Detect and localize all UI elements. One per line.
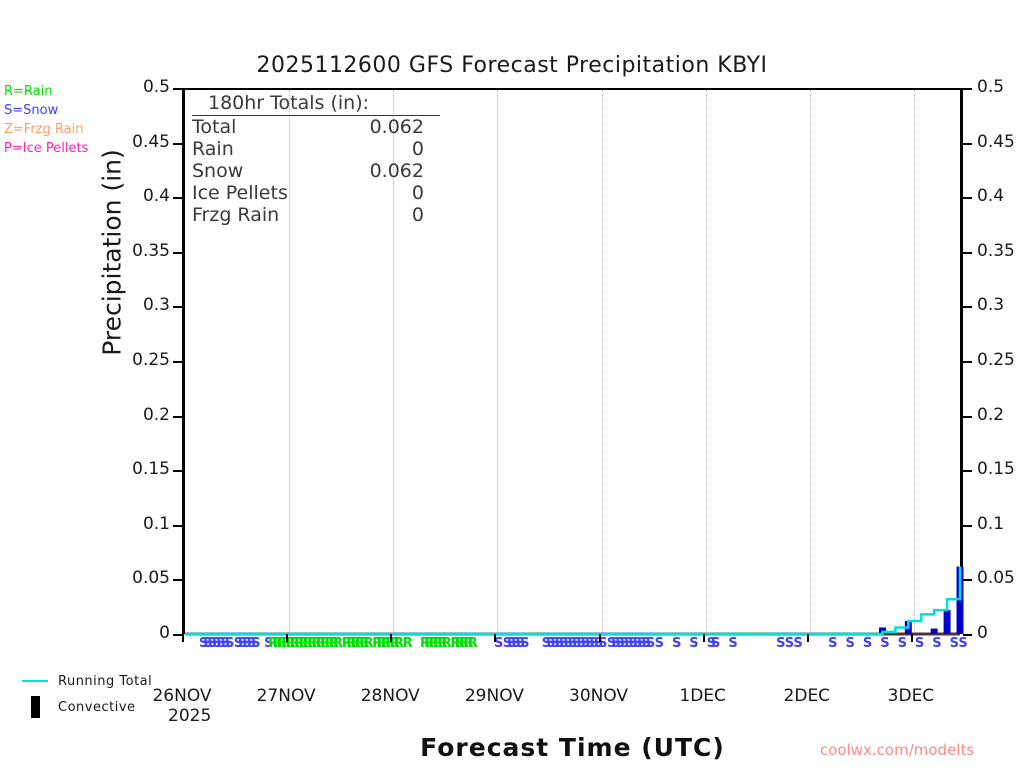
series-legend-item: Convective <box>14 694 152 720</box>
x-tick-mark <box>286 634 288 642</box>
y-tick-label-right: 0 <box>977 625 988 642</box>
x-tick-mark <box>494 634 496 642</box>
totals-row: Rain0 <box>192 138 440 160</box>
totals-heading: 180hr Totals (in): <box>192 92 440 116</box>
precip-type-marker: S <box>898 634 907 654</box>
totals-row-value: 0 <box>412 204 440 226</box>
y-tick-label-right: 0.35 <box>977 243 1015 260</box>
precip-type-marker: S <box>251 634 260 654</box>
y-tick-mark-right <box>963 525 972 527</box>
x-tick-mark <box>599 634 601 642</box>
y-tick-mark-right <box>963 197 972 199</box>
x-tick-label: 30NOV <box>569 686 628 706</box>
precip-type-marker-row: SSSSSSSSSSSSSRRRRRRRRRRRRRRRRRRRRRRRRRRR… <box>182 634 963 654</box>
x-tick-label: 27NOV <box>257 686 316 706</box>
precip-type-marker: S <box>915 634 924 654</box>
precip-type-marker: S <box>880 634 889 654</box>
totals-summary-box: 180hr Totals (in): Total0.062Rain0Snow0.… <box>192 92 440 226</box>
y-tick-label-left: 0.4 <box>110 188 170 205</box>
totals-row-value: 0.062 <box>370 160 440 182</box>
x-tick-mark <box>703 634 705 642</box>
totals-row-value: 0.062 <box>370 116 440 138</box>
precip-type-marker: S <box>828 634 837 654</box>
precip-type-marker: S <box>711 634 720 654</box>
totals-rows: Total0.062Rain0Snow0.062Ice Pellets0Frzg… <box>192 116 440 226</box>
y-tick-label-right: 0.2 <box>977 407 1004 424</box>
y-tick-mark-right <box>963 579 972 581</box>
site-watermark: coolwx.com/modelts <box>820 741 974 759</box>
y-tick-label-right: 0.3 <box>977 297 1004 314</box>
convective-bar-swatch <box>31 696 40 718</box>
precip-type-marker: S <box>958 634 967 654</box>
y-tick-label-right: 0.05 <box>977 570 1015 587</box>
x-tick-label: 26NOV <box>152 686 211 706</box>
precip-type-marker: S <box>655 634 664 654</box>
y-tick-mark-left <box>173 634 182 636</box>
y-tick-mark-right <box>963 361 972 363</box>
totals-row-value: 0 <box>412 138 440 160</box>
x-tick-label: 28NOV <box>361 686 420 706</box>
y-tick-label-left: 0.3 <box>110 297 170 314</box>
precip-type-marker: R <box>403 634 413 654</box>
y-tick-label-right: 0.45 <box>977 134 1015 151</box>
y-tick-mark-right <box>963 252 972 254</box>
x-tick-label: 3DEC <box>888 686 935 706</box>
ptype-legend-item-r: R=Rain <box>4 82 88 101</box>
y-tick-label-left: 0.25 <box>110 352 170 369</box>
totals-row-label: Ice Pellets <box>192 182 288 204</box>
y-tick-label-left: 0.2 <box>110 407 170 424</box>
y-tick-label-right: 0.5 <box>977 79 1004 96</box>
totals-row-label: Frzg Rain <box>192 204 279 226</box>
precip-type-marker: S <box>672 634 681 654</box>
y-tick-mark-left <box>173 197 182 199</box>
totals-row: Snow0.062 <box>192 160 440 182</box>
running-total-line-swatch <box>22 680 48 682</box>
x-tick-mark <box>182 634 184 642</box>
y-tick-mark-right <box>963 143 972 145</box>
totals-row-label: Total <box>192 116 236 138</box>
totals-row-label: Snow <box>192 160 243 182</box>
series-legend-label: Running Total <box>58 674 152 689</box>
ptype-legend-item-z: Z=Frzg Rain <box>4 120 88 139</box>
series-legend-item: Running Total <box>14 668 152 694</box>
y-tick-mark-right <box>963 470 972 472</box>
y-tick-label-right: 0.25 <box>977 352 1015 369</box>
precip-type-marker: S <box>846 634 855 654</box>
precip-type-marker: R <box>468 634 478 654</box>
series-legend: Running TotalConvective <box>14 668 152 720</box>
precip-type-marker: S <box>863 634 872 654</box>
ptype-legend-item-s: S=Snow <box>4 101 88 120</box>
x-tick-label: 1DEC <box>679 686 726 706</box>
ptype-legend-item-p: P=Ice Pellets <box>4 139 88 158</box>
precip-type-marker: S <box>689 634 698 654</box>
y-tick-label-left: 0.35 <box>110 243 170 260</box>
x-tick-mark <box>807 634 809 642</box>
page-title: 2025112600 GFS Forecast Precipitation KB… <box>0 53 1024 78</box>
totals-row: Total0.062 <box>192 116 440 138</box>
precip-type-marker: S <box>520 634 529 654</box>
y-tick-mark-left <box>173 306 182 308</box>
y-tick-label-left: 0.45 <box>110 134 170 151</box>
precip-type-legend: R=RainS=SnowZ=Frzg RainP=Ice Pellets <box>4 82 88 158</box>
x-tick-mark <box>390 634 392 642</box>
y-tick-mark-right <box>963 306 972 308</box>
x-axis-year-label: 2025 <box>168 706 211 726</box>
totals-row: Ice Pellets0 <box>192 182 440 204</box>
y-tick-label-right: 0.4 <box>977 188 1004 205</box>
y-tick-mark-left <box>173 470 182 472</box>
series-legend-label: Convective <box>58 700 136 715</box>
y-tick-label-left: 0.1 <box>110 516 170 533</box>
y-tick-label-left: 0.05 <box>110 570 170 587</box>
totals-row: Frzg Rain0 <box>192 204 440 226</box>
y-tick-label-right: 0.15 <box>977 461 1015 478</box>
y-tick-mark-left <box>173 361 182 363</box>
y-tick-label-left: 0 <box>110 625 170 642</box>
y-tick-label-left: 0.15 <box>110 461 170 478</box>
y-tick-mark-right <box>963 416 972 418</box>
y-tick-mark-left <box>173 88 182 90</box>
y-tick-mark-left <box>173 579 182 581</box>
running-total-line <box>185 567 960 634</box>
y-tick-label-left: 0.5 <box>110 79 170 96</box>
precip-type-marker: S <box>793 634 802 654</box>
convective-bar <box>944 610 951 634</box>
y-tick-mark-right <box>963 88 972 90</box>
y-tick-label-right: 0.1 <box>977 516 1004 533</box>
y-tick-mark-left <box>173 143 182 145</box>
precip-type-marker: S <box>932 634 941 654</box>
y-tick-mark-left <box>173 525 182 527</box>
x-tick-label: 29NOV <box>465 686 524 706</box>
y-tick-mark-left <box>173 252 182 254</box>
totals-row-value: 0 <box>412 182 440 204</box>
totals-row-label: Rain <box>192 138 234 160</box>
precip-type-marker: S <box>728 634 737 654</box>
y-tick-mark-left <box>173 416 182 418</box>
x-tick-label: 2DEC <box>784 686 831 706</box>
x-tick-mark <box>911 634 913 642</box>
